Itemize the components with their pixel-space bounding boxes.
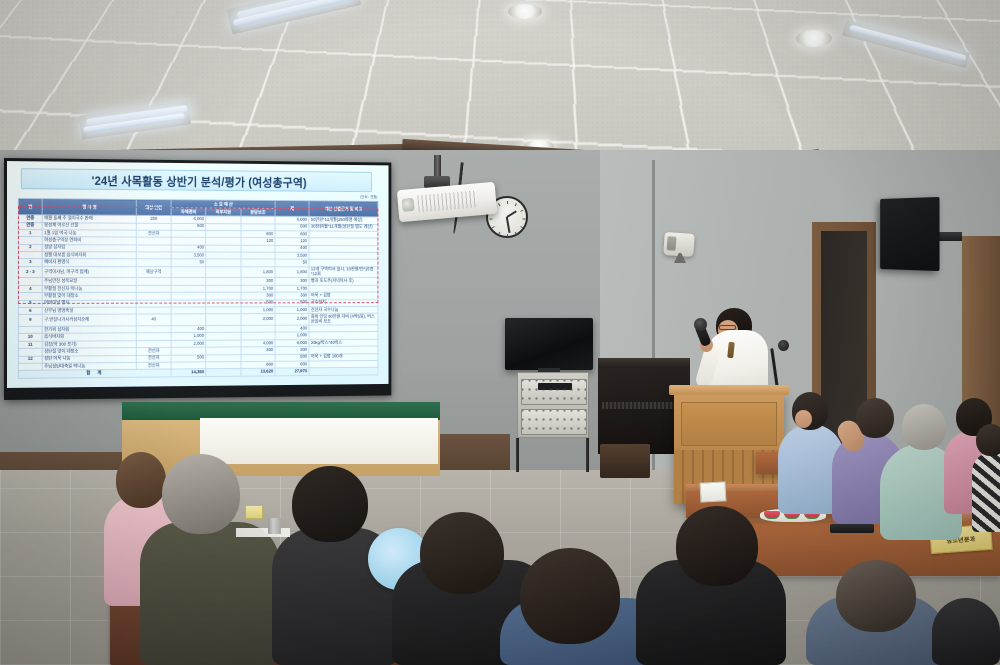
cell-ext [206,307,241,314]
cell-share [241,245,275,252]
th-total: 계 [275,201,309,217]
cell-share: 300 [241,292,275,299]
budget-table: 번 행 사 명 대상 인원 소 요 예 산 계 예산 산출근거 및 비고 자체경… [18,198,378,379]
wall-mounted-tv [880,197,939,271]
cell-no [18,278,42,285]
projector-lens [402,198,415,212]
watermelon-slice [764,511,780,519]
th-budget-share: 분담보조 [241,208,275,216]
av-equipment-rack [517,372,589,438]
audience-head [836,560,916,632]
projector-vent [417,190,478,212]
av-amplifier[interactable] [521,379,587,405]
audience-face [795,410,812,428]
cell-no: 2 - 3 [18,266,42,278]
cell-no: 4 [18,285,42,292]
cell-total: 120 [275,238,309,245]
th-target: 대상 인원 [136,200,171,216]
total-sum: 27,970 [275,368,309,375]
microphone-head-icon [694,318,707,331]
cell-self [171,300,206,307]
ceiling-downlight [508,4,542,19]
name-placard-small [245,505,263,519]
cell-self [171,307,206,314]
cell-ext [206,245,241,252]
av-rack-legs [514,438,592,472]
cell-ext [206,300,241,307]
fan-label [380,554,419,562]
slide-title: '24년 사목활동 상반기 분석/평가 (여성총구역) [22,169,373,193]
cell-no: 2 [18,244,42,251]
cell-no [18,326,42,333]
audience-head [292,466,368,542]
cell-total: 400 [275,245,309,252]
audience-head [676,506,758,586]
cell-ext [206,252,241,259]
cell-target [136,245,171,252]
cell-name: 예비자 환영식 [42,259,136,266]
audience-torso [932,598,1000,665]
slide-unit-note: (단위 : 천원) [360,195,377,200]
cell-share: 1,800 [241,267,275,278]
cell-name: 부활절 전신자 떡나눔 [42,285,136,292]
budget-table-body: 연중매월 둘째 주 열치국수 판매2506,0006,00050만원*12개월(… [18,215,377,378]
cell-self [171,237,206,244]
audience-head-grey-hair [902,404,946,450]
cell-share [241,252,275,259]
podium-top [669,385,789,395]
cell-self [171,314,206,326]
av-knobs[interactable] [522,410,586,434]
podium-front-panel [681,402,777,446]
cell-name: 구역미사남, 여구역 함께) [42,266,136,278]
av-rack-television [505,318,593,370]
cell-self: 400 [171,245,206,252]
cell-share [241,259,275,266]
audience-head-long-hair [116,452,166,508]
cell-ext [206,267,241,278]
cell-remark: 빵과 포도주(저녁미사 후) [309,278,378,285]
cell-ext [206,285,241,292]
cell-total: 1,700 [275,285,309,292]
cell-self [171,278,206,285]
paper-sheet [236,528,290,537]
cell-no: 1 [18,229,42,236]
cell-self [171,292,206,299]
room-photo-scene: '24년 사목활동 상반기 분석/평가 (여성총구역) (단위 : 천원) 번 … [0,0,1000,665]
ceiling-downlight [796,30,832,47]
cell-share: 120 [241,238,275,245]
cell-total: 1,800 [275,267,309,278]
audience-head [976,424,1000,456]
cell-share: 500 [241,300,275,307]
cell-total: 3,500 [275,252,309,259]
slide-table-wrap: 번 행 사 명 대상 인원 소 요 예 산 계 예산 산출근거 및 비고 자체경… [18,198,378,379]
total-ext [206,369,241,377]
total-share: 13,620 [241,368,275,376]
front-table-white-cloth [200,418,438,464]
th-remark: 예산 산출근거 및 비고 [309,201,378,217]
cell-self: 3,500 [171,252,206,259]
total-remark [309,368,378,376]
cell-target: 전신자 [136,230,171,237]
cell-no: 3 [18,259,42,266]
cell-no [18,252,42,259]
cell-no: 5 [18,300,42,307]
audience-torso [140,522,280,665]
cell-total: 500 [275,300,309,307]
cell-share: 2,000 [241,314,275,325]
th-no: 번 [18,199,42,215]
cell-target [136,307,171,314]
av-knobs[interactable] [522,380,586,404]
audience-head [520,548,620,644]
cell-no [18,293,42,300]
cell-total: 300 [275,278,309,285]
cell-target: 해당구역 [136,267,171,278]
cell-no [18,237,42,244]
cell-share: 1,700 [241,285,275,292]
piano-lid [598,358,690,368]
cell-share: 300 [241,278,275,285]
cell-no: 9 [18,315,42,327]
table-row: 2 - 3구역미사남, 여구역 함께)해당구역1,8001,80012개 구역미… [18,266,377,278]
th-name: 행 사 명 [42,199,136,216]
microphone-stand-head-icon [778,340,789,351]
cell-ext [206,278,241,285]
cell-total: 300 [275,292,309,299]
audience-head-grey-hair [162,454,240,534]
total-self: 14,350 [171,369,206,377]
mobile-phone[interactable] [830,524,874,533]
cell-target [136,293,171,300]
piano-bench [600,444,650,478]
cell-name: 주님만찬 성목요일 [42,278,136,285]
cell-name: 구.반장나가사키성지순례 [42,314,136,326]
cell-ext [206,259,241,266]
speaker-grill [667,236,677,251]
cell-self [171,285,206,292]
cell-remark: 12개 구역미사 실시, 10천원/인*15명*12회 [309,267,378,278]
steel-cup [268,518,281,534]
av-mixer[interactable] [521,409,587,435]
clock-hour-hand [506,210,516,218]
cell-target [136,252,171,259]
th-budget-self: 자체경비 [171,208,206,216]
cell-target [136,300,171,307]
cell-no: 연중 [18,215,42,223]
projection-screen: '24년 사목활동 상반기 분석/평가 (여성총구역) (단위 : 천원) 번 … [4,158,391,400]
cell-target [136,285,171,292]
cell-target [136,237,171,244]
audience-head [420,512,504,594]
name-placard-white [699,481,726,502]
cell-target [136,259,171,266]
cell-total: 50 [275,259,309,266]
audience-torso-patterned [972,452,1000,532]
clock-minute-hand [506,217,510,233]
cell-self: 50 [171,259,206,266]
slide-title-box: '24년 사목활동 상반기 분석/평가 (여성총구역) [21,168,372,192]
cell-self [171,230,206,237]
cell-total: 2,000 [275,314,309,325]
cell-ext [206,292,241,299]
cell-no: 연중 [18,222,42,229]
cell-share: 1,000 [241,307,275,314]
cell-target: 40 [136,314,171,326]
cell-no: 6 [18,307,42,314]
piano-keys [602,402,674,409]
total-label: 합 계 [18,369,171,378]
cell-remark: 회비 인당 80만원 자비 (4박5일), 버스 운임비 보조 [309,314,378,326]
cell-ext [206,314,241,326]
cell-self [171,267,206,278]
th-budget-ext: 외부지원 [206,208,241,216]
cell-target [136,278,171,285]
cell-ext [206,238,241,245]
presentation-slide: '24년 사목활동 상반기 분석/평가 (여성총구역) (단위 : 천원) 번 … [7,161,389,388]
cell-remark [309,285,378,292]
cell-no: 10 [18,334,42,342]
